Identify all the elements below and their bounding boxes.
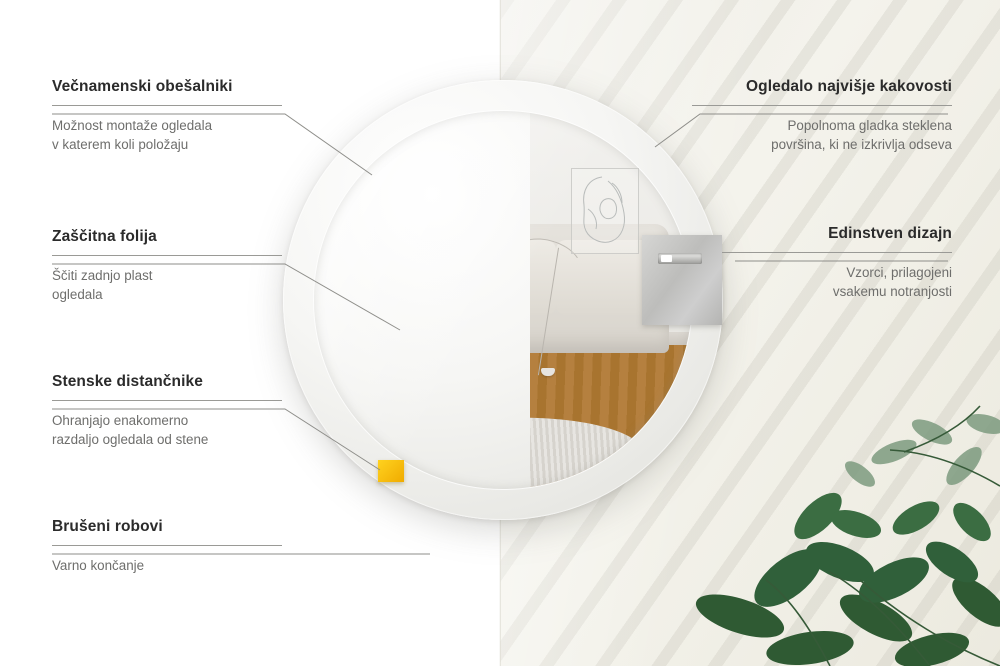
callout-title: Brušeni robovi xyxy=(52,518,282,536)
callout-multi-purpose-hangers: Večnamenski obešalniki Možnost montaže o… xyxy=(52,78,282,154)
callout-polished-edges: Brušeni robovi Varno končanje xyxy=(52,518,282,575)
callout-title: Ogledalo najvišje kakovosti xyxy=(692,78,952,96)
callout-rule xyxy=(52,105,282,106)
product-feature-graphic: Večnamenski obešalniki Možnost montaže o… xyxy=(0,0,1000,666)
callout-description: Varno končanje xyxy=(52,556,282,575)
callout-description: Vzorci, prilagojenivsakemu notranjosti xyxy=(722,263,952,301)
callout-wall-spacers: Stenske distančnike Ohranjajo enakomerno… xyxy=(52,373,282,449)
callout-top-quality-mirror: Ogledalo najvišje kakovosti Popolnoma gl… xyxy=(692,78,952,154)
callout-rule xyxy=(692,105,952,106)
callout-description: Ohranjajo enakomernorazdaljo ogledala od… xyxy=(52,411,282,449)
callout-title: Zaščitna folija xyxy=(52,228,282,246)
callout-rule xyxy=(722,252,952,253)
callout-rule xyxy=(52,255,282,256)
callout-description: Možnost montaže ogledalav katerem koli p… xyxy=(52,116,282,154)
callout-title: Stenske distančnike xyxy=(52,373,282,391)
callout-title: Edinstven dizajn xyxy=(722,225,952,243)
callout-unique-design: Edinstven dizajn Vzorci, prilagojenivsak… xyxy=(722,225,952,301)
foliage-decoration xyxy=(680,366,1000,666)
callout-title: Večnamenski obešalniki xyxy=(52,78,282,96)
callout-rule xyxy=(52,400,282,401)
callout-description: Ščiti zadnjo plastogledala xyxy=(52,266,282,304)
callout-description: Popolnoma gladka steklenapovršina, ki ne… xyxy=(692,116,952,154)
callout-rule xyxy=(52,545,282,546)
callout-protective-film: Zaščitna folija Ščiti zadnjo plastogleda… xyxy=(52,228,282,304)
